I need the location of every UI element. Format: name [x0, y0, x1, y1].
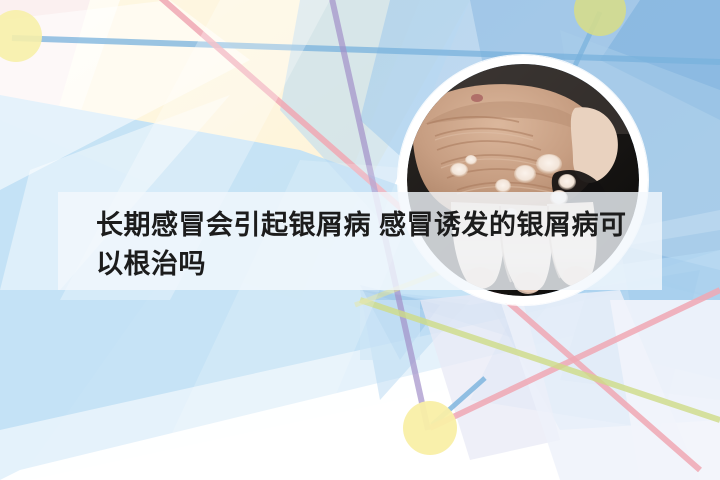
- skin-mark: [471, 94, 483, 102]
- banner-image: 长期感冒会引起银屑病 感冒诱发的银屑病可 以根治吗: [0, 0, 720, 480]
- yellow-circle-node-bottom: [403, 401, 457, 455]
- page-title-line-1: 长期感冒会引起银屑病 感冒诱发的银屑病可: [96, 206, 632, 245]
- page-title-line-2: 以根治吗: [96, 245, 632, 284]
- title-overlay-band: 长期感冒会引起银屑病 感冒诱发的银屑病可 以根治吗: [58, 192, 662, 290]
